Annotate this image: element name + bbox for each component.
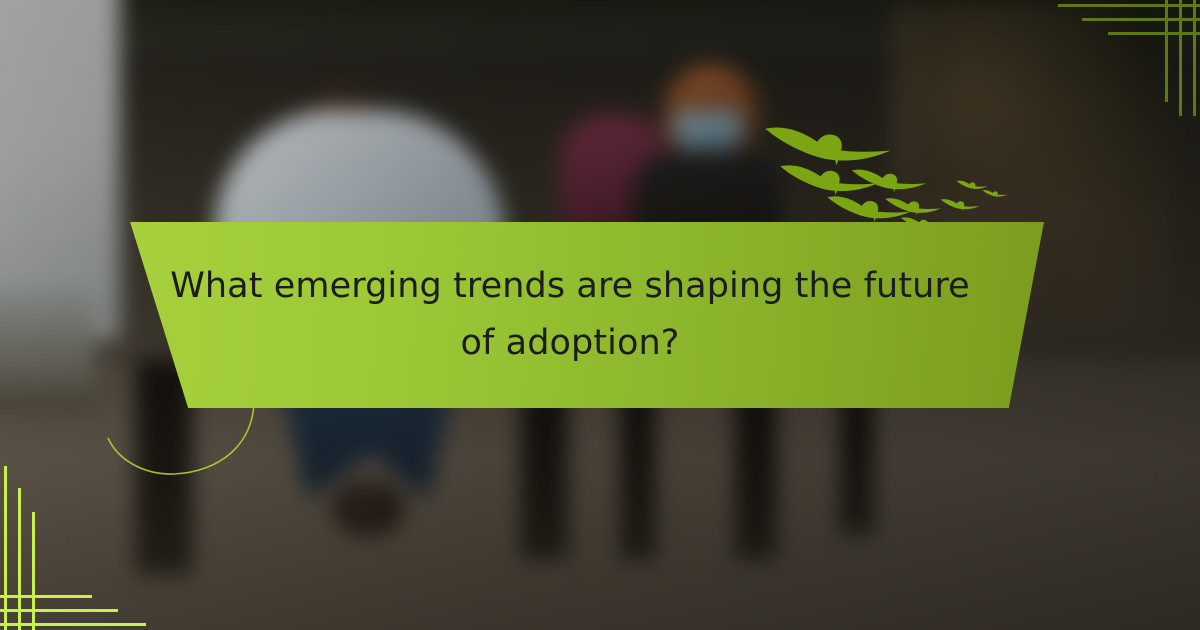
corner-line-h2 bbox=[1082, 18, 1200, 21]
corner-line-h3 bbox=[1108, 32, 1200, 35]
bird-icon bbox=[940, 196, 980, 213]
corner-line-v2 bbox=[1179, 0, 1182, 116]
corner-line-h3 bbox=[0, 623, 146, 626]
corner-line-h1 bbox=[0, 595, 92, 598]
social-card: What emerging trends are shaping the fut… bbox=[0, 0, 1200, 630]
corner-line-v3 bbox=[1165, 0, 1168, 102]
corner-line-v1 bbox=[4, 466, 7, 630]
bird-icon bbox=[982, 188, 1008, 199]
bird-flock bbox=[760, 112, 1020, 232]
corner-line-v3 bbox=[32, 512, 35, 630]
corner-line-v1 bbox=[1193, 0, 1196, 116]
headline-text: What emerging trends are shaping the fut… bbox=[150, 258, 990, 371]
corner-line-v2 bbox=[18, 488, 21, 630]
